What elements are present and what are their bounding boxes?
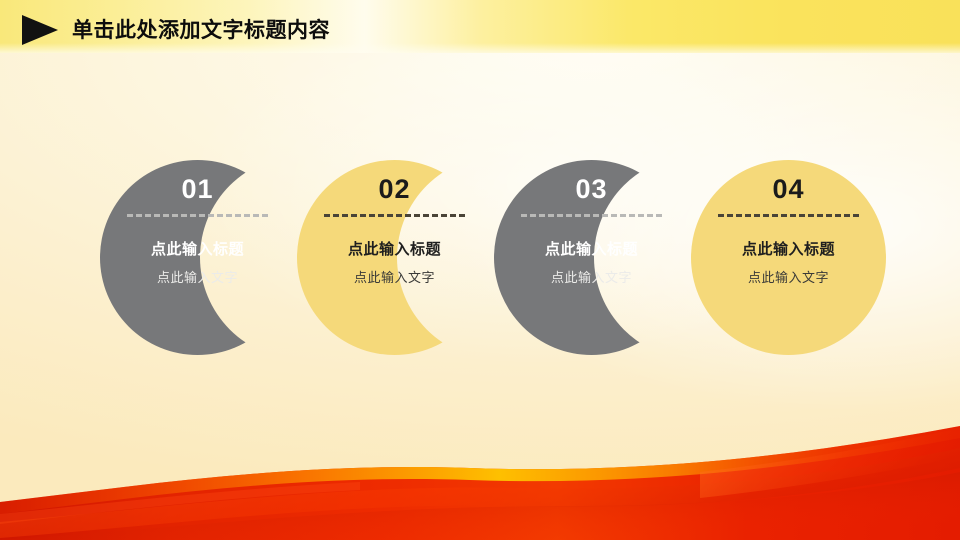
circle-heading: 点此输入标题: [545, 242, 638, 257]
circle-content-03: 03 点此输入标题 点此输入文字: [494, 160, 689, 355]
circle-content-04: 04 点此输入标题 点此输入文字: [691, 160, 886, 355]
circle-heading: 点此输入标题: [742, 242, 835, 257]
slide-header: 单击此处添加文字标题内容: [22, 13, 330, 47]
circle-content-01: 01 点此输入标题 点此输入文字: [100, 160, 295, 355]
circle-content-02: 02 点此输入标题 点此输入文字: [297, 160, 492, 355]
circle-heading: 点此输入标题: [151, 242, 244, 257]
circle-divider: [521, 214, 662, 217]
circle-number: 04: [772, 176, 804, 203]
play-triangle-icon: [22, 15, 58, 45]
circle-number: 01: [181, 176, 213, 203]
circle-subtext: 点此输入文字: [551, 271, 632, 284]
circle-card-row: 01 点此输入标题 点此输入文字: [0, 160, 960, 360]
circle-card-02[interactable]: 02 点此输入标题 点此输入文字: [297, 160, 492, 355]
circle-divider: [324, 214, 465, 217]
red-silk-ribbon: [0, 410, 960, 540]
circle-card-01[interactable]: 01 点此输入标题 点此输入文字: [100, 160, 295, 355]
slide-canvas: 单击此处添加文字标题内容 01 点此输入标题: [0, 0, 960, 540]
circle-subtext: 点此输入文字: [748, 271, 829, 284]
circle-card-03[interactable]: 03 点此输入标题 点此输入文字: [494, 160, 689, 355]
circle-number: 02: [378, 176, 410, 203]
page-title: 单击此处添加文字标题内容: [72, 20, 330, 41]
circle-divider: [718, 214, 859, 217]
circle-number: 03: [575, 176, 607, 203]
circle-subtext: 点此输入文字: [157, 271, 238, 284]
circle-card-04[interactable]: 04 点此输入标题 点此输入文字: [691, 160, 886, 355]
circle-heading: 点此输入标题: [348, 242, 441, 257]
circle-subtext: 点此输入文字: [354, 271, 435, 284]
circle-divider: [127, 214, 268, 217]
